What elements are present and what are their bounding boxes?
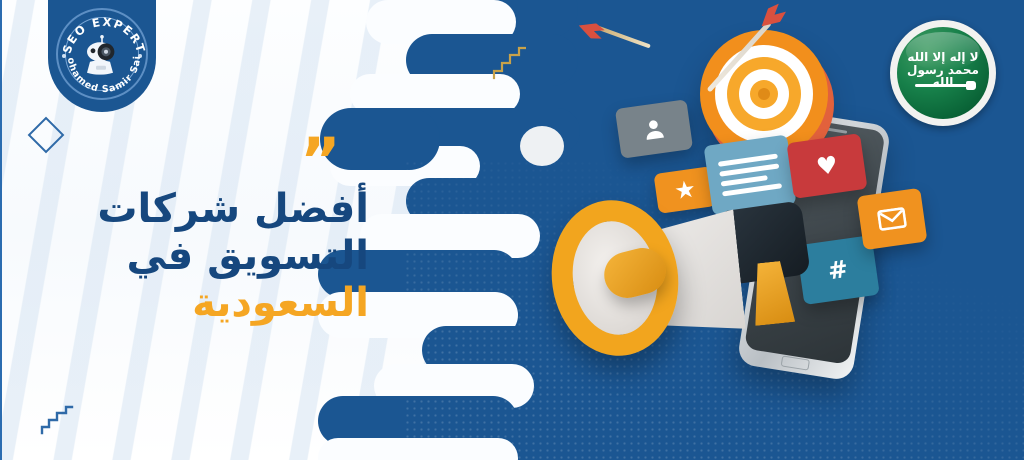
headline-line-3-highlight: السعودية	[192, 280, 369, 326]
quote-mark-icon: ”	[300, 142, 341, 179]
seo-expert-logo[interactable]: SEO EXPERT Mohamed Samir Said	[48, 0, 156, 112]
hashtag-icon: #	[799, 253, 878, 287]
marketing-banner: SEO EXPERT Mohamed Samir Said	[0, 0, 1024, 460]
headline-line-1: أفضل شركات	[97, 186, 369, 232]
headline-line-2: التسويق في	[127, 233, 370, 279]
page-title: أفضل شركات التسويق في السعودية	[39, 186, 369, 326]
robot-icon	[80, 35, 124, 75]
background-blob	[520, 126, 564, 166]
digital-marketing-3d-illustration: ★ ♥ #	[560, 0, 960, 460]
speech-bubble-mail-icon	[857, 188, 928, 250]
stairs-zigzag-blue-icon	[40, 405, 74, 435]
stairs-zigzag-gold-icon	[492, 46, 526, 80]
logo-badge-ring: SEO EXPERT Mohamed Samir Said	[56, 8, 148, 100]
left-edge-rule	[0, 0, 2, 460]
speech-bubble-user-icon	[615, 99, 693, 159]
speech-bubble-heart-icon: ♥	[786, 133, 867, 199]
text-lines-icon	[717, 149, 783, 202]
star-icon: ★	[655, 174, 716, 206]
heart-icon: ♥	[789, 149, 866, 183]
dart-secondary-fletching	[576, 18, 606, 42]
